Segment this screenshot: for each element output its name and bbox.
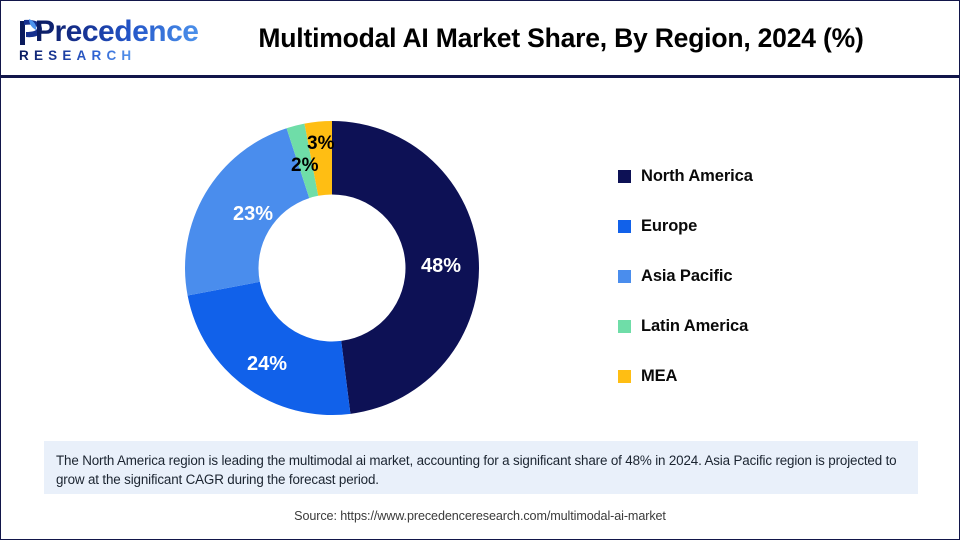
slice-label-north-america: 48%: [421, 255, 461, 278]
legend-item-label: Europe: [641, 217, 697, 236]
slice-label-asia-pacific: 23%: [233, 203, 273, 226]
header-bar: Precedence RESEARCH Multimodal AI Market…: [1, 1, 959, 78]
slice-label-europe: 24%: [247, 353, 287, 376]
donut-slice-europe[interactable]: [188, 282, 351, 415]
brand-logo: Precedence RESEARCH: [17, 15, 167, 67]
footnote-box: The North America region is leading the …: [44, 441, 918, 494]
slice-label-latin-america: 2%: [291, 155, 318, 177]
legend-swatch-icon: [618, 370, 631, 383]
chart-legend: North AmericaEuropeAsia PacificLatin Ame…: [618, 151, 878, 401]
legend-item-label: Asia Pacific: [641, 267, 732, 286]
legend-swatch-icon: [618, 170, 631, 183]
legend-swatch-icon: [618, 320, 631, 333]
page-title: Multimodal AI Market Share, By Region, 2…: [191, 1, 931, 75]
source-line: Source: https://www.precedenceresearch.c…: [1, 509, 959, 523]
legend-item-label: Latin America: [641, 317, 748, 336]
legend-item-mea[interactable]: MEA: [618, 351, 878, 401]
brand-name: Precedence: [35, 15, 198, 49]
legend-swatch-icon: [618, 270, 631, 283]
footnote-text: The North America region is leading the …: [56, 451, 904, 489]
slice-label-mea: 3%: [307, 133, 334, 155]
brand-subtitle: RESEARCH: [19, 48, 136, 64]
legend-item-north-america[interactable]: North America: [618, 151, 878, 201]
donut-chart: 48% 24% 23% 2% 3%: [185, 121, 479, 415]
legend-item-latin-america[interactable]: Latin America: [618, 301, 878, 351]
legend-item-asia-pacific[interactable]: Asia Pacific: [618, 251, 878, 301]
legend-swatch-icon: [618, 220, 631, 233]
legend-item-label: MEA: [641, 367, 677, 386]
legend-item-label: North America: [641, 167, 753, 186]
legend-item-europe[interactable]: Europe: [618, 201, 878, 251]
infographic-root: Precedence RESEARCH Multimodal AI Market…: [0, 0, 960, 540]
